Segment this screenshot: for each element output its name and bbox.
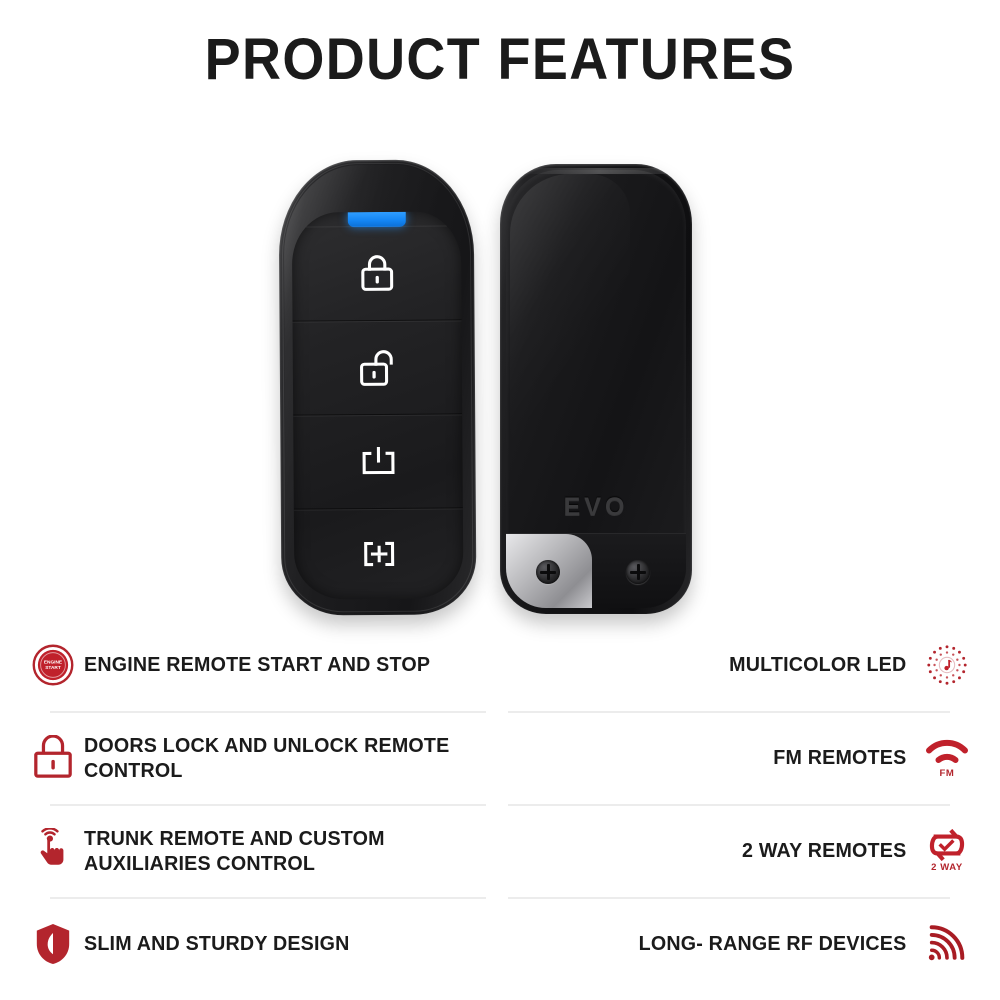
padlock-icon [22, 735, 84, 781]
feature-divider [50, 804, 486, 806]
aux-plus-icon [355, 530, 401, 576]
feature-list: ENGINE START ENGINE REMOTE START AND STO… [0, 618, 1000, 990]
svg-text:START: START [45, 665, 61, 671]
lock-button[interactable] [292, 225, 462, 320]
two-way-loop-icon: 2 WAY [916, 829, 978, 873]
remote-front-face [278, 159, 476, 615]
feature-divider [50, 897, 486, 899]
two-way-caption: 2 WAY [931, 862, 963, 873]
feature-divider [50, 711, 486, 713]
touch-hand-icon [22, 828, 84, 874]
page-title: PRODUCT FEATURES [35, 26, 965, 93]
fob-base-plate [506, 533, 686, 608]
feature-item-slim-sturdy-design[interactable]: SLIM AND STURDY DESIGN [22, 897, 492, 990]
feature-item-multicolor-led[interactable]: MULTICOLOR LED [508, 618, 978, 711]
feature-divider [508, 804, 950, 806]
screw-left-icon [536, 560, 560, 584]
feature-label: LONG- RANGE RF DEVICES [524, 931, 916, 956]
feature-label: TRUNK REMOTE AND CUSTOM AUXILIARIES CONT… [84, 826, 476, 876]
auxiliary-button[interactable] [294, 507, 464, 598]
feature-item-fm-remotes[interactable]: FM REMOTES FM [508, 711, 978, 804]
remote-keypad [292, 211, 464, 599]
fm-signal-icon: FM [916, 737, 978, 779]
unlock-icon [354, 344, 400, 390]
brand-logo: EVO [500, 493, 692, 522]
feature-label: SLIM AND STURDY DESIGN [84, 931, 476, 956]
remote-back-face: EVO [500, 164, 692, 614]
multicolor-led-icon [916, 642, 978, 688]
rf-waves-icon [916, 922, 978, 966]
svg-text:ENGINE: ENGINE [44, 659, 62, 665]
shield-icon [22, 921, 84, 967]
feature-item-long-range-rf[interactable]: LONG- RANGE RF DEVICES [508, 897, 978, 990]
feature-item-trunk-auxiliaries[interactable]: TRUNK REMOTE AND CUSTOM AUXILIARIES CONT… [22, 804, 492, 897]
unlock-button[interactable] [293, 319, 463, 414]
feature-divider [508, 711, 950, 713]
product-image: EVO [250, 150, 750, 620]
trunk-button[interactable] [293, 413, 463, 508]
feature-label: FM REMOTES [524, 745, 916, 770]
fm-caption: FM [940, 768, 955, 779]
screw-right-icon [626, 560, 650, 584]
feature-item-2-way-remotes[interactable]: 2 WAY REMOTES 2 WAY [508, 804, 978, 897]
feature-column-left: ENGINE START ENGINE REMOTE START AND STO… [22, 618, 492, 990]
feature-item-engine-start[interactable]: ENGINE START ENGINE REMOTE START AND STO… [22, 618, 492, 711]
feature-label: 2 WAY REMOTES [524, 838, 916, 863]
feature-column-right: MULTICOLOR LED [508, 618, 978, 990]
trunk-release-icon [355, 438, 401, 484]
feature-divider [508, 897, 950, 899]
lock-icon [354, 250, 400, 296]
feature-label: MULTICOLOR LED [524, 652, 916, 677]
engine-start-button-icon: ENGINE START [22, 643, 84, 687]
feature-label: ENGINE REMOTE START AND STOP [84, 652, 476, 677]
feature-item-doors-lock-unlock[interactable]: DOORS LOCK AND UNLOCK REMOTE CONTROL [22, 711, 492, 804]
feature-label: DOORS LOCK AND UNLOCK REMOTE CONTROL [84, 733, 476, 783]
fob-top-seam [524, 168, 674, 174]
